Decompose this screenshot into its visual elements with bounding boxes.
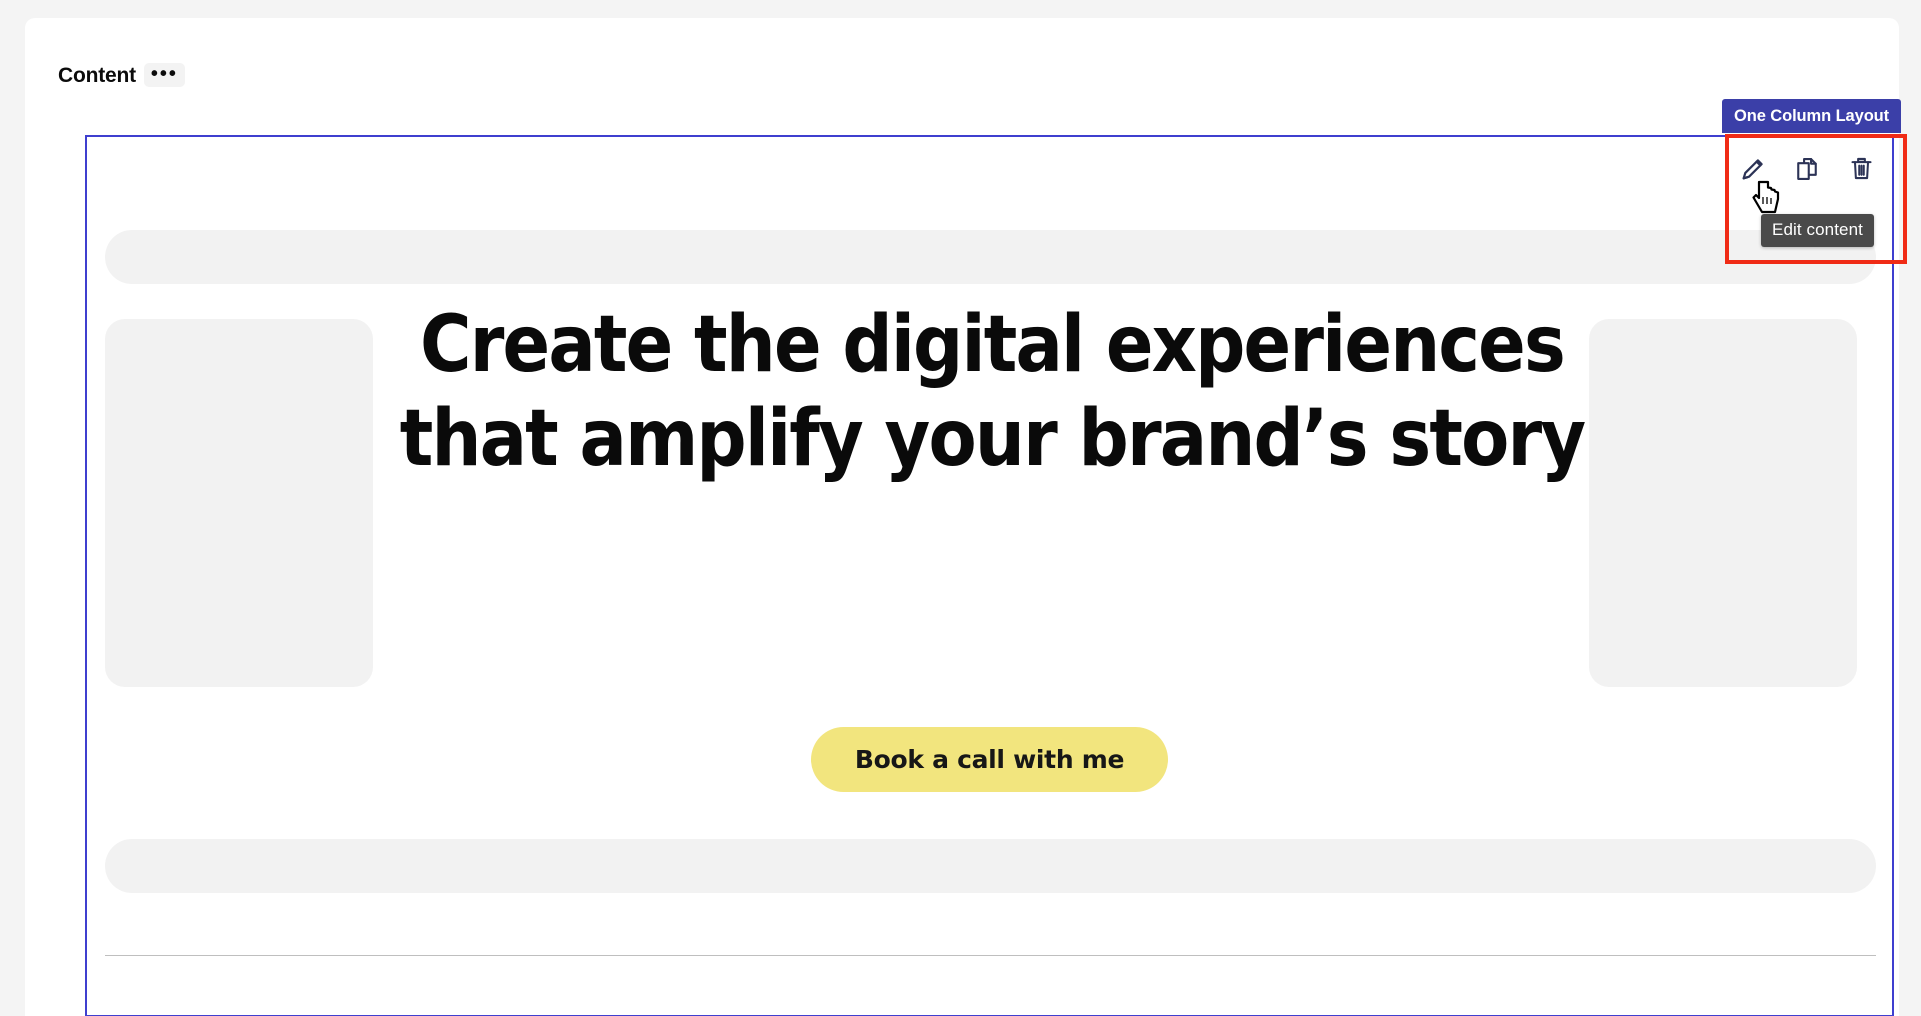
content-block-selected[interactable]: Create the digital experiences that ampl…	[85, 135, 1894, 1016]
delete-content-button[interactable]	[1845, 154, 1877, 186]
hero-heading: Create the digital experiences that ampl…	[337, 299, 1647, 486]
block-toolbar	[1737, 154, 1877, 186]
layout-name-badge: One Column Layout	[1722, 99, 1901, 133]
page-title: Content	[58, 65, 136, 86]
pencil-icon	[1739, 155, 1767, 186]
page-root: Content ••• Create the digital experienc…	[0, 0, 1921, 1016]
section-overflow-menu-button[interactable]: •••	[144, 63, 185, 87]
content-divider	[105, 955, 1876, 956]
left-image-placeholder	[105, 319, 373, 687]
editor-card: Content ••• Create the digital experienc…	[25, 18, 1899, 1016]
tooltip-edit-content: Edit content	[1761, 214, 1874, 247]
trash-icon	[1848, 155, 1875, 185]
duplicate-content-button[interactable]	[1791, 154, 1823, 186]
cta-wrapper: Book a call with me	[87, 727, 1892, 792]
duplicate-pages-icon	[1793, 155, 1821, 186]
edit-content-button[interactable]	[1737, 154, 1769, 186]
book-a-call-button[interactable]: Book a call with me	[811, 727, 1168, 792]
section-header: Content •••	[58, 58, 185, 92]
top-bar-placeholder	[105, 230, 1876, 284]
bottom-bar-placeholder	[105, 839, 1876, 893]
